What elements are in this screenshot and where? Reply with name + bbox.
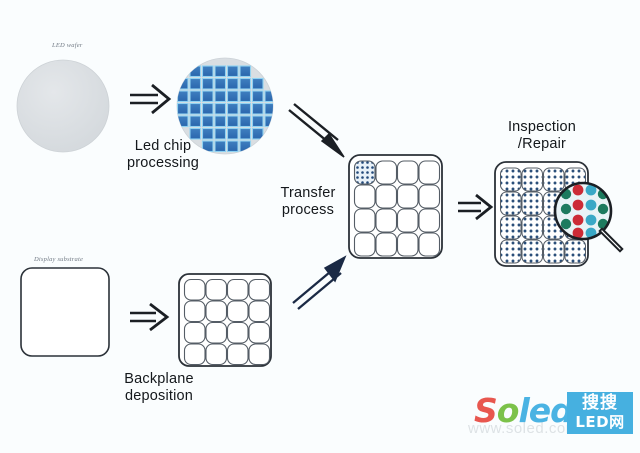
arrow-wafer-to-chips bbox=[130, 85, 169, 113]
logo-letter-s: S bbox=[474, 391, 497, 430]
arrow-backplane-to-transfer bbox=[293, 257, 345, 309]
transfer-process-label: Transfer process bbox=[262, 185, 354, 219]
led-chip-processing-label: Led chip processing bbox=[108, 138, 218, 172]
display-substrate-label: Display substrate bbox=[34, 256, 83, 263]
diagram-graphics bbox=[0, 0, 640, 453]
led-wafer-shape bbox=[17, 60, 109, 152]
transfer-panel-shape bbox=[349, 155, 442, 258]
logo-cn-top: 搜搜 bbox=[567, 393, 633, 413]
arrow-chips-to-transfer bbox=[289, 104, 344, 157]
logo-letter-o: o bbox=[497, 391, 519, 430]
logo-chinese-badge: 搜搜 LED网 bbox=[567, 392, 633, 434]
diagram-canvas: LED wafer Led chip processing Transfer p… bbox=[0, 0, 640, 453]
arrow-substrate-to-backplane bbox=[130, 304, 167, 330]
backplane-deposition-label: Backplane deposition bbox=[104, 371, 214, 405]
logo-cn-bottom: LED网 bbox=[567, 413, 633, 432]
logo-wordmark: Soled bbox=[474, 394, 573, 428]
led-wafer-label: LED wafer bbox=[52, 42, 83, 49]
display-substrate-shape bbox=[21, 268, 109, 356]
inspection-repair-label: Inspection /Repair bbox=[494, 119, 590, 153]
arrow-transfer-to-inspection bbox=[458, 195, 491, 219]
logo-letters-led: led bbox=[518, 391, 572, 430]
soled-logo: Soled 搜搜 LED网 bbox=[474, 392, 634, 440]
backplane-panel-shape bbox=[179, 274, 271, 366]
